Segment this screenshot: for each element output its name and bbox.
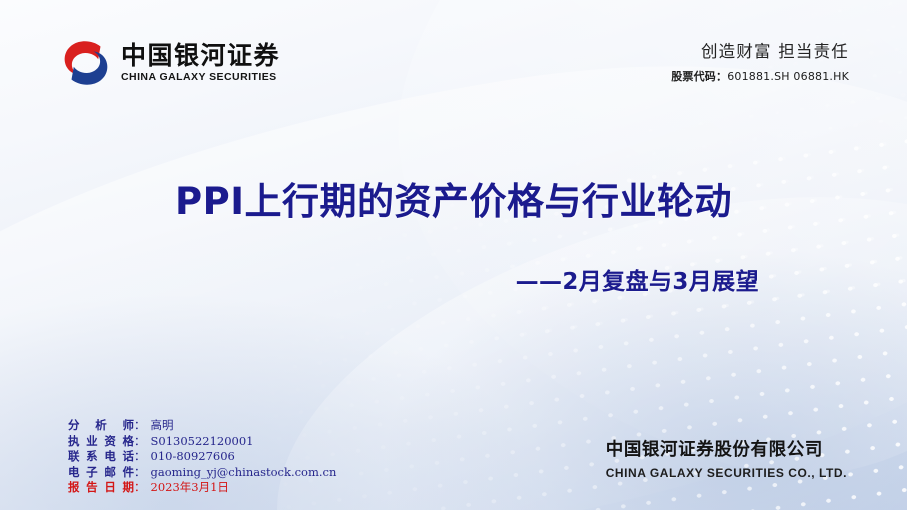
analyst-info-colon: ： [134,418,146,434]
analyst-info-row: 联系电话：010-80927606 [68,449,336,465]
analyst-info-label: 执业资格 [68,434,134,450]
analyst-info-label: 分析师 [68,418,134,434]
analyst-info-colon: ： [134,449,146,465]
stock-code-value: 601881.SH 06881.HK [727,70,849,83]
header-right-block: 创造财富 担当责任 股票代码：601881.SH 06881.HK [671,42,849,84]
brand-name-cn: 中国银河证券 [121,43,280,69]
company-name-cn: 中国银河证券股份有限公司 [606,440,847,461]
analyst-info-value: 2023年3月1日 [151,480,229,496]
analyst-info-row: 分析师：高明 [68,418,336,434]
title-area: PPI上行期的资产价格与行业轮动 ——2月复盘与3月展望 [0,180,907,296]
analyst-info-value: 010-80927606 [151,449,235,465]
slide-header: 中国银河证券 CHINA GALAXY SECURITIES 创造财富 担当责任… [0,0,907,112]
company-name-en: CHINA GALAXY SECURITIES CO., LTD. [606,466,847,480]
china-galaxy-securities-logo-icon [60,38,112,88]
company-footer: 中国银河证券股份有限公司 CHINA GALAXY SECURITIES CO.… [606,440,847,480]
analyst-info-value: gaoming_yj@chinastock.com.cn [151,465,337,481]
stock-code-label: 股票代码： [671,70,727,83]
report-cover-slide: 中国银河证券 CHINA GALAXY SECURITIES 创造财富 担当责任… [0,0,907,510]
analyst-info-label: 电子邮件 [68,465,134,481]
report-title: PPI上行期的资产价格与行业轮动 [0,180,907,224]
analyst-info-row: 电子邮件：gaoming_yj@chinastock.com.cn [68,465,336,481]
report-subtitle: ——2月复盘与3月展望 [0,262,907,296]
analyst-info-colon: ： [134,465,146,481]
analyst-info-block: 分析师：高明执业资格：S0130522120001联系电话：010-809276… [68,418,336,496]
analyst-info-value: S0130522120001 [151,434,254,450]
brand-logo-text: 中国银河证券 CHINA GALAXY SECURITIES [121,43,280,84]
analyst-info-value: 高明 [151,418,174,434]
stock-code-line: 股票代码：601881.SH 06881.HK [671,68,849,84]
brand-name-en: CHINA GALAXY SECURITIES [121,72,280,84]
analyst-info-label: 报告日期 [68,480,134,496]
analyst-info-row: 执业资格：S0130522120001 [68,434,336,450]
analyst-info-colon: ： [134,480,146,496]
company-slogan: 创造财富 担当责任 [671,42,849,63]
analyst-info-row: 报告日期：2023年3月1日 [68,480,336,496]
brand-logo: 中国银河证券 CHINA GALAXY SECURITIES [60,38,280,88]
analyst-info-label: 联系电话 [68,449,134,465]
analyst-info-colon: ： [134,434,146,450]
